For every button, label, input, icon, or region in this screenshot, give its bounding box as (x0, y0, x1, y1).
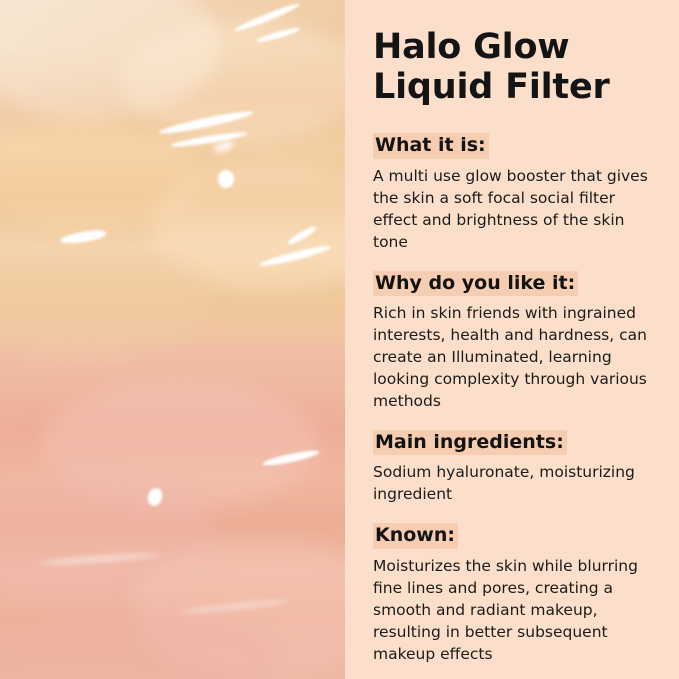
section-heading: Why do you like it: (373, 271, 578, 296)
page-title-line2: Liquid Filter (373, 67, 610, 107)
page-title-line1: Halo Glow (373, 27, 569, 67)
section-heading: Known: (373, 523, 458, 548)
page-title: Halo Glow Liquid Filter (373, 28, 649, 107)
section-what-it-is: What it is: A multi use glow booster tha… (373, 133, 649, 252)
liquid-swatch-photo (0, 0, 345, 679)
section-why-you-like-it: Why do you like it: Rich in skin friends… (373, 271, 649, 412)
section-main-ingredients: Main ingredients: Sodium hyaluronate, mo… (373, 430, 649, 505)
section-body: Moisturizes the skin while blurring fine… (373, 555, 649, 665)
product-copy-panel: Halo Glow Liquid Filter What it is: A mu… (345, 0, 679, 679)
product-info-card: Halo Glow Liquid Filter What it is: A mu… (0, 0, 679, 679)
section-known: Known: Moisturizes the skin while blurri… (373, 523, 649, 664)
section-heading: What it is: (373, 133, 489, 158)
highlight-dot-2 (218, 170, 234, 188)
section-heading: Main ingredients: (373, 430, 567, 455)
section-body: Sodium hyaluronate, moisturizing ingredi… (373, 461, 649, 505)
section-body: Rich in skin friends with ingrained inte… (373, 302, 649, 412)
section-body: A multi use glow booster that gives the … (373, 165, 649, 253)
